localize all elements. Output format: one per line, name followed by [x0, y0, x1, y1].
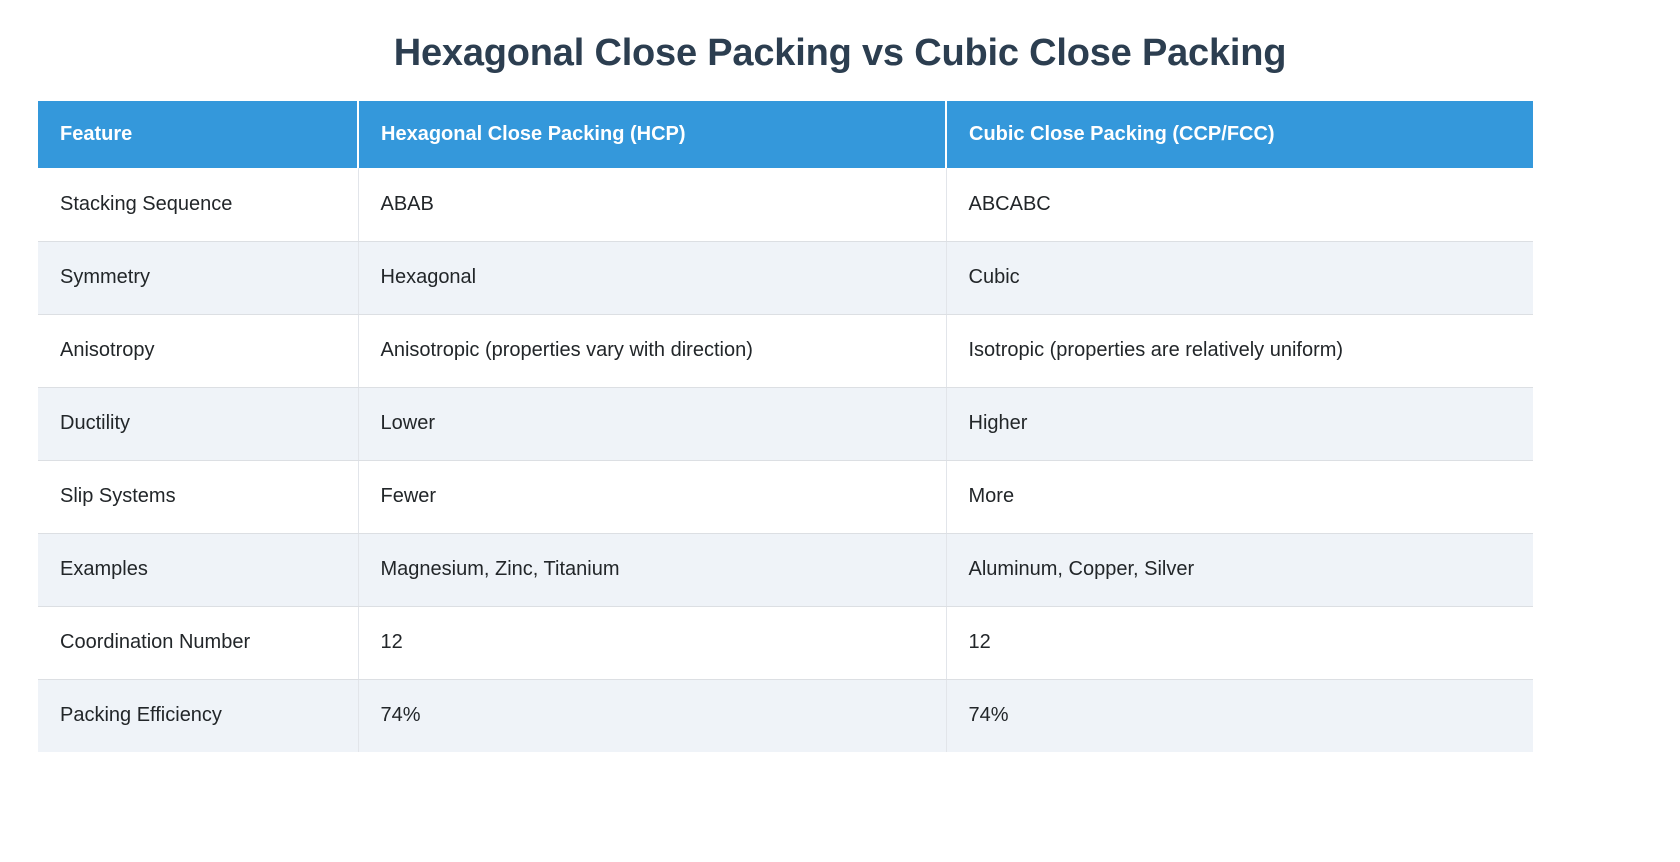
cell-hcp: Fewer — [358, 460, 946, 533]
table-row: Slip Systems Fewer More — [38, 460, 1533, 533]
cell-hcp: 12 — [358, 606, 946, 679]
cell-feature: Stacking Sequence — [38, 168, 358, 241]
cell-ccp: Higher — [946, 387, 1533, 460]
cell-ccp: 12 — [946, 606, 1533, 679]
column-header-hcp[interactable]: Hexagonal Close Packing (HCP) — [358, 101, 946, 168]
table-row: Symmetry Hexagonal Cubic — [38, 241, 1533, 314]
cell-hcp: 74% — [358, 679, 946, 752]
table-body: Stacking Sequence ABAB ABCABC Symmetry H… — [38, 168, 1533, 752]
table-row: Anisotropy Anisotropic (properties vary … — [38, 314, 1533, 387]
page-title: Hexagonal Close Packing vs Cubic Close P… — [0, 0, 1680, 78]
table-row: Examples Magnesium, Zinc, Titanium Alumi… — [38, 533, 1533, 606]
table-header: Feature Hexagonal Close Packing (HCP) Cu… — [38, 101, 1533, 168]
comparison-table: Feature Hexagonal Close Packing (HCP) Cu… — [38, 101, 1533, 752]
cell-ccp: Cubic — [946, 241, 1533, 314]
table-row: Stacking Sequence ABAB ABCABC — [38, 168, 1533, 241]
table-row: Packing Efficiency 74% 74% — [38, 679, 1533, 752]
cell-hcp: Magnesium, Zinc, Titanium — [358, 533, 946, 606]
cell-ccp: 74% — [946, 679, 1533, 752]
column-header-feature[interactable]: Feature — [38, 101, 358, 168]
cell-ccp: More — [946, 460, 1533, 533]
cell-ccp: Isotropic (properties are relatively uni… — [946, 314, 1533, 387]
cell-feature: Symmetry — [38, 241, 358, 314]
cell-feature: Slip Systems — [38, 460, 358, 533]
cell-hcp: Lower — [358, 387, 946, 460]
cell-hcp: ABAB — [358, 168, 946, 241]
column-header-ccp[interactable]: Cubic Close Packing (CCP/FCC) — [946, 101, 1533, 168]
comparison-table-container: Feature Hexagonal Close Packing (HCP) Cu… — [38, 101, 1533, 752]
cell-hcp: Hexagonal — [358, 241, 946, 314]
cell-feature: Anisotropy — [38, 314, 358, 387]
table-row: Ductility Lower Higher — [38, 387, 1533, 460]
page-root: Hexagonal Close Packing vs Cubic Close P… — [0, 0, 1680, 862]
cell-feature: Ductility — [38, 387, 358, 460]
cell-hcp: Anisotropic (properties vary with direct… — [358, 314, 946, 387]
table-header-row: Feature Hexagonal Close Packing (HCP) Cu… — [38, 101, 1533, 168]
table-row: Coordination Number 12 12 — [38, 606, 1533, 679]
cell-feature: Packing Efficiency — [38, 679, 358, 752]
cell-feature: Examples — [38, 533, 358, 606]
cell-ccp: Aluminum, Copper, Silver — [946, 533, 1533, 606]
cell-feature: Coordination Number — [38, 606, 358, 679]
cell-ccp: ABCABC — [946, 168, 1533, 241]
